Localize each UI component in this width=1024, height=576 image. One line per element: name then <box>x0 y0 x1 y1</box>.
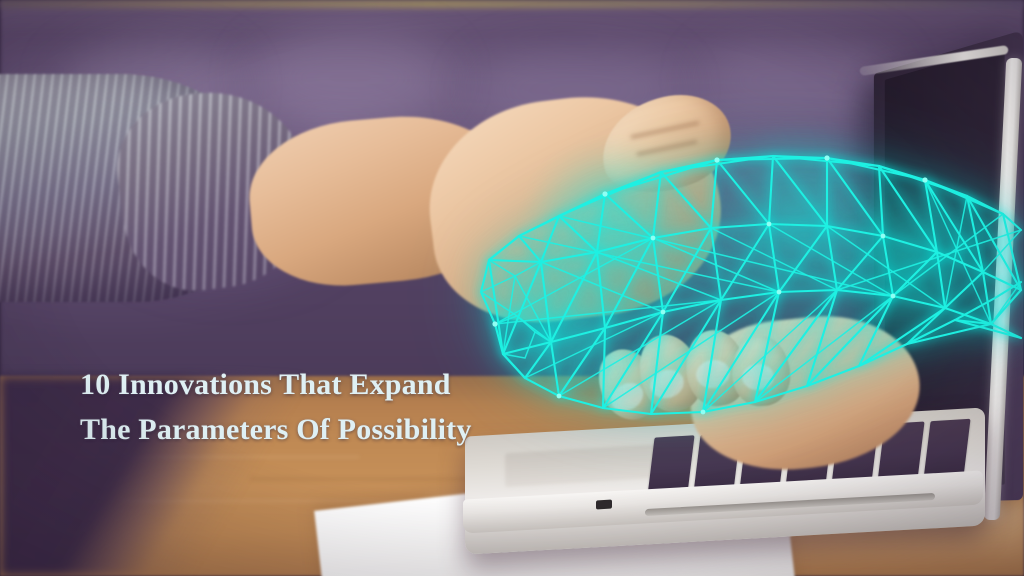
headline-line-2: The Parameters Of Possibility <box>80 407 600 452</box>
wall-blotch <box>250 30 450 126</box>
laptop-port <box>596 500 612 510</box>
headline: 10 Innovations That Expand The Parameter… <box>80 362 600 452</box>
wall-top-strip <box>0 0 1024 8</box>
banner-image: 10 Innovations That Expand The Parameter… <box>0 0 1024 576</box>
headline-line-1: 10 Innovations That Expand <box>80 362 600 407</box>
